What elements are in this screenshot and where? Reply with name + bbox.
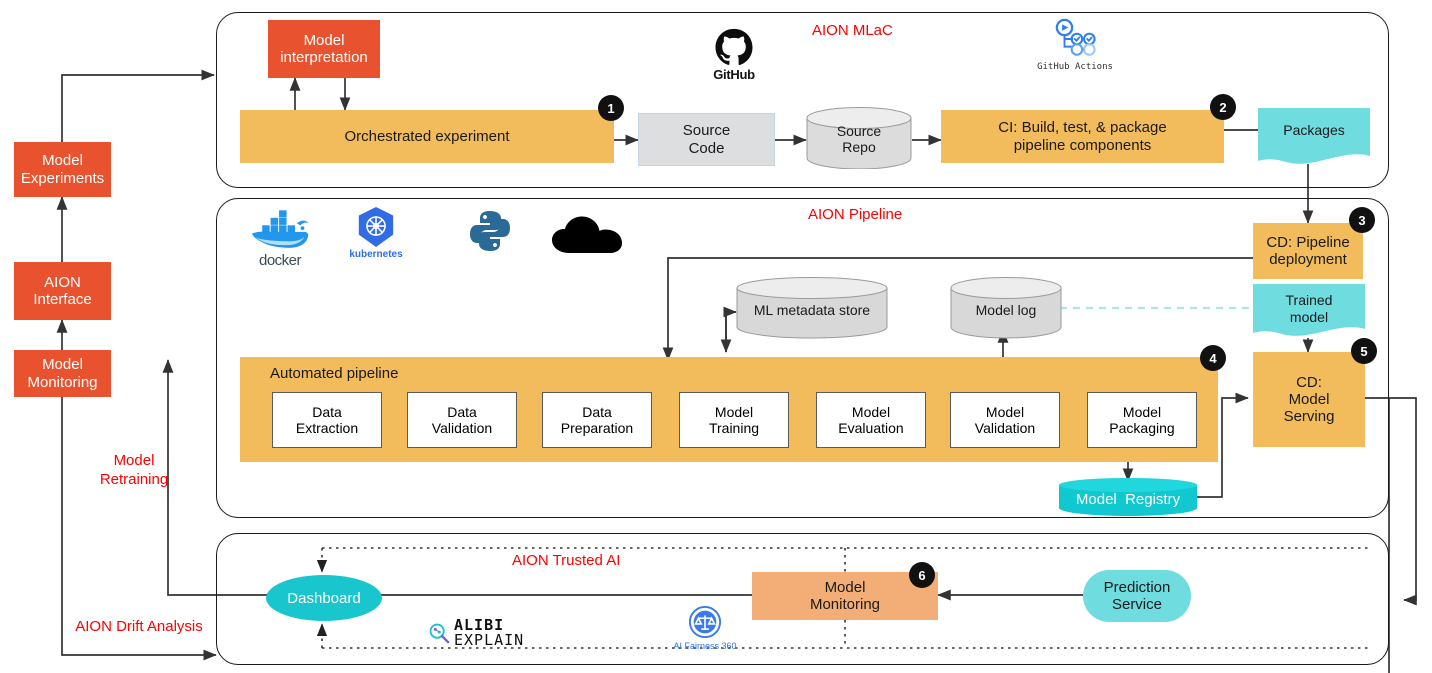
- sidebar-label-model-monitoring: Model Monitoring: [27, 356, 97, 391]
- github-logo-caption: GitHub: [713, 67, 755, 82]
- kubernetes-helm-icon: [355, 206, 397, 248]
- prediction-service-box[interactable]: Prediction Service: [1083, 570, 1191, 622]
- ai-fairness-scales-icon: [688, 605, 722, 639]
- mlops-architecture-diagram: AION MLaC AION Pipeline AION Trusted AI …: [0, 0, 1432, 673]
- sidebar-item-model-experiments[interactable]: Model Experiments: [14, 142, 111, 197]
- stage-label: Data Extraction: [296, 404, 358, 436]
- ci-build-test-package-box[interactable]: CI: Build, test, & package pipeline comp…: [941, 110, 1224, 163]
- python-logo: [460, 208, 520, 254]
- alibi-caption-line2: EXPLAIN: [454, 633, 524, 648]
- sidebar-item-model-monitoring[interactable]: Model Monitoring: [14, 350, 111, 397]
- orchestrated-experiment-label: Orchestrated experiment: [344, 128, 509, 145]
- trained-model-label: Trained model: [1253, 292, 1365, 326]
- source-repo-label: Source Repo: [806, 123, 912, 155]
- model-interpretation-box[interactable]: Model interpretation: [268, 20, 380, 78]
- github-mark-icon: [714, 28, 754, 68]
- section-title-aion-pipeline: AION Pipeline: [808, 206, 902, 223]
- kubernetes-logo: kubernetes: [339, 206, 413, 260]
- alibi-magnifier-icon: [428, 622, 450, 644]
- cd-model-serving-label: CD: Model Serving: [1284, 374, 1335, 426]
- stage-label: Data Preparation: [561, 404, 633, 436]
- packages-shape[interactable]: Packages: [1258, 108, 1370, 168]
- pipeline-stage-model-training[interactable]: Model Training: [679, 392, 789, 448]
- stage-label: Model Packaging: [1109, 404, 1174, 436]
- automated-pipeline-label: Automated pipeline: [270, 365, 398, 382]
- cd-pipeline-deployment-box[interactable]: CD: Pipeline deployment: [1253, 223, 1363, 279]
- pipeline-stage-model-packaging[interactable]: Model Packaging: [1087, 392, 1197, 448]
- badge-2: 2: [1210, 94, 1236, 120]
- alibi-explain-logo: ALIBI EXPLAIN: [428, 618, 524, 648]
- model-registry-cylinder[interactable]: Model Registry: [1058, 478, 1198, 518]
- docker-whale-icon: [250, 208, 310, 252]
- cd-model-serving-box[interactable]: CD: Model Serving: [1253, 352, 1365, 447]
- github-actions-caption: GitHub Actions: [1037, 62, 1113, 72]
- stage-label: Model Validation: [975, 404, 1035, 436]
- flow-label-aion-drift-analysis: AION Drift Analysis: [64, 618, 214, 637]
- badge-3: 3: [1349, 207, 1375, 233]
- sidebar-label-model-experiments: Model Experiments: [21, 152, 104, 187]
- source-code-box[interactable]: Source Code: [638, 113, 775, 166]
- cloud-logo: [548, 215, 638, 255]
- python-icon: [467, 208, 513, 254]
- sidebar-label-aion-interface: AION Interface: [33, 274, 91, 309]
- pipeline-stage-model-validation[interactable]: Model Validation: [950, 392, 1060, 448]
- pipeline-stage-model-evaluation[interactable]: Model Evaluation: [816, 392, 926, 448]
- pipeline-stage-data-preparation[interactable]: Data Preparation: [542, 392, 652, 448]
- badge-1: 1: [598, 95, 624, 121]
- stage-label: Data Validation: [432, 404, 492, 436]
- badge-5: 5: [1351, 338, 1377, 364]
- source-code-label: Source Code: [683, 122, 731, 157]
- badge-4: 4: [1200, 345, 1226, 371]
- github-actions-logo: GitHub Actions: [1012, 18, 1138, 72]
- pipeline-stage-data-extraction[interactable]: Data Extraction: [272, 392, 382, 448]
- orchestrated-experiment-box[interactable]: Orchestrated experiment: [240, 110, 614, 163]
- cd-pipeline-deployment-label: CD: Pipeline deployment: [1266, 234, 1349, 269]
- ml-metadata-store-label: ML metadata store: [736, 302, 888, 318]
- cloud-icon: [550, 215, 636, 255]
- badge-6: 6: [909, 562, 935, 588]
- pipeline-stage-data-validation[interactable]: Data Validation: [407, 392, 517, 448]
- dashboard-label: Dashboard: [287, 590, 360, 607]
- stage-label: Model Training: [709, 404, 759, 436]
- ml-metadata-store-cylinder[interactable]: ML metadata store: [736, 277, 888, 339]
- sidebar-item-aion-interface[interactable]: AION Interface: [14, 262, 111, 320]
- packages-label: Packages: [1258, 122, 1370, 138]
- flow-label-model-retraining: Model Retraining: [78, 452, 190, 490]
- prediction-service-label: Prediction Service: [1104, 579, 1171, 614]
- source-repo-cylinder[interactable]: Source Repo: [806, 107, 912, 169]
- ai-fairness-360-logo: AI Fairness 360: [662, 605, 748, 651]
- model-log-label: Model log: [950, 302, 1062, 318]
- dashboard-ellipse[interactable]: Dashboard: [266, 575, 382, 621]
- docker-logo: docker: [243, 208, 317, 269]
- github-logo: GitHub: [682, 28, 786, 82]
- section-title-aion-trusted-ai: AION Trusted AI: [512, 552, 620, 569]
- model-interpretation-label: Model interpretation: [280, 32, 368, 67]
- docker-caption: docker: [259, 252, 301, 269]
- ci-label: CI: Build, test, & package pipeline comp…: [998, 119, 1166, 154]
- model-registry-label: Model Registry: [1058, 491, 1198, 508]
- github-actions-icon: [1054, 18, 1096, 60]
- trained-model-shape[interactable]: Trained model: [1253, 284, 1365, 340]
- model-log-cylinder[interactable]: Model log: [950, 277, 1062, 339]
- ai-fairness-caption: AI Fairness 360: [673, 641, 736, 651]
- model-monitoring-label: Model Monitoring: [810, 579, 880, 614]
- stage-label: Model Evaluation: [838, 404, 903, 436]
- section-title-aion-mlac: AION MLaC: [812, 22, 893, 39]
- kubernetes-caption: kubernetes: [349, 249, 402, 260]
- document-wave-shape: [1258, 108, 1370, 168]
